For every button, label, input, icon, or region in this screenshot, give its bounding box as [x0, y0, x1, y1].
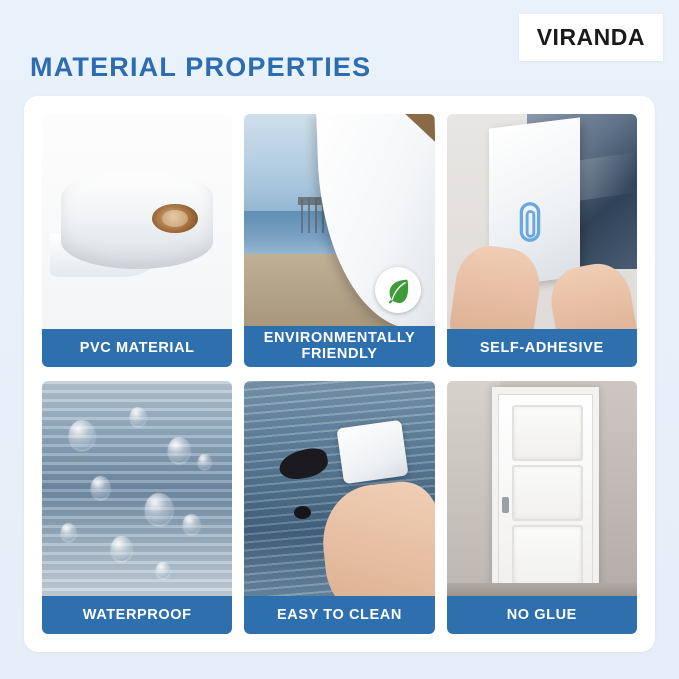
water-drop — [130, 407, 146, 426]
feature-label-environmentally-friendly: ENVIRONMENTALLY FRIENDLY — [244, 326, 434, 367]
door-inset-middle — [512, 465, 583, 521]
brand-name: VIRANDA — [537, 24, 645, 51]
water-drop — [61, 523, 76, 541]
hands-applying-film-photo — [447, 114, 637, 329]
feature-tile-easy-to-clean: EASY TO CLEAN — [244, 381, 434, 634]
water-drop — [145, 493, 173, 525]
feature-tile-self-adhesive: SELF-ADHESIVE — [447, 114, 637, 367]
feature-tile-pvc-material: PVC MATERIAL — [42, 114, 232, 367]
leaf-icon — [375, 267, 421, 313]
feature-card: PVC MATERIAL — [24, 96, 655, 652]
feature-label-self-adhesive: SELF-ADHESIVE — [447, 329, 637, 367]
water-drop — [168, 437, 190, 463]
pvc-roll-core-inner — [162, 210, 188, 227]
feature-tile-no-glue: NO GLUE — [447, 381, 637, 634]
water-drop — [156, 562, 170, 578]
stain-mark-small — [294, 506, 311, 519]
feature-label-waterproof: WATERPROOF — [42, 596, 232, 634]
white-door-photo — [447, 381, 637, 596]
feature-label-pvc-material: PVC MATERIAL — [42, 329, 232, 367]
water-droplets-photo — [42, 381, 232, 596]
feature-tile-environmentally-friendly: ENVIRONMENTALLY FRIENDLY — [244, 114, 434, 367]
pvc-roll-photo — [42, 114, 232, 329]
feature-label-easy-to-clean: EASY TO CLEAN — [244, 596, 434, 634]
page-title: MATERIAL PROPERTIES — [30, 52, 371, 83]
water-drop — [183, 514, 200, 534]
feature-label-no-glue: NO GLUE — [447, 596, 637, 634]
peel-backing-triangle — [401, 114, 435, 143]
pvc-roll-body — [61, 170, 213, 269]
door-panel — [498, 394, 593, 596]
water-drop — [111, 536, 132, 561]
infographic-page: VIRANDA MATERIAL PROPERTIES PVC MATERIAL — [0, 0, 679, 679]
feature-grid: PVC MATERIAL — [42, 114, 637, 634]
cleaning-sponge — [336, 420, 408, 484]
wall-right — [595, 381, 637, 596]
brand-logo-box: VIRANDA — [519, 14, 663, 61]
paper-clip-icon — [515, 200, 545, 244]
door-inset-top — [512, 405, 583, 461]
beach-peel-photo — [244, 114, 434, 326]
door-handle — [502, 497, 509, 513]
floor — [447, 583, 637, 596]
pvc-roll-core — [152, 204, 198, 234]
sponge-wiping-photo — [244, 381, 434, 596]
feature-tile-waterproof: WATERPROOF — [42, 381, 232, 634]
door-inset-bottom — [512, 525, 583, 587]
water-drop — [69, 420, 95, 450]
